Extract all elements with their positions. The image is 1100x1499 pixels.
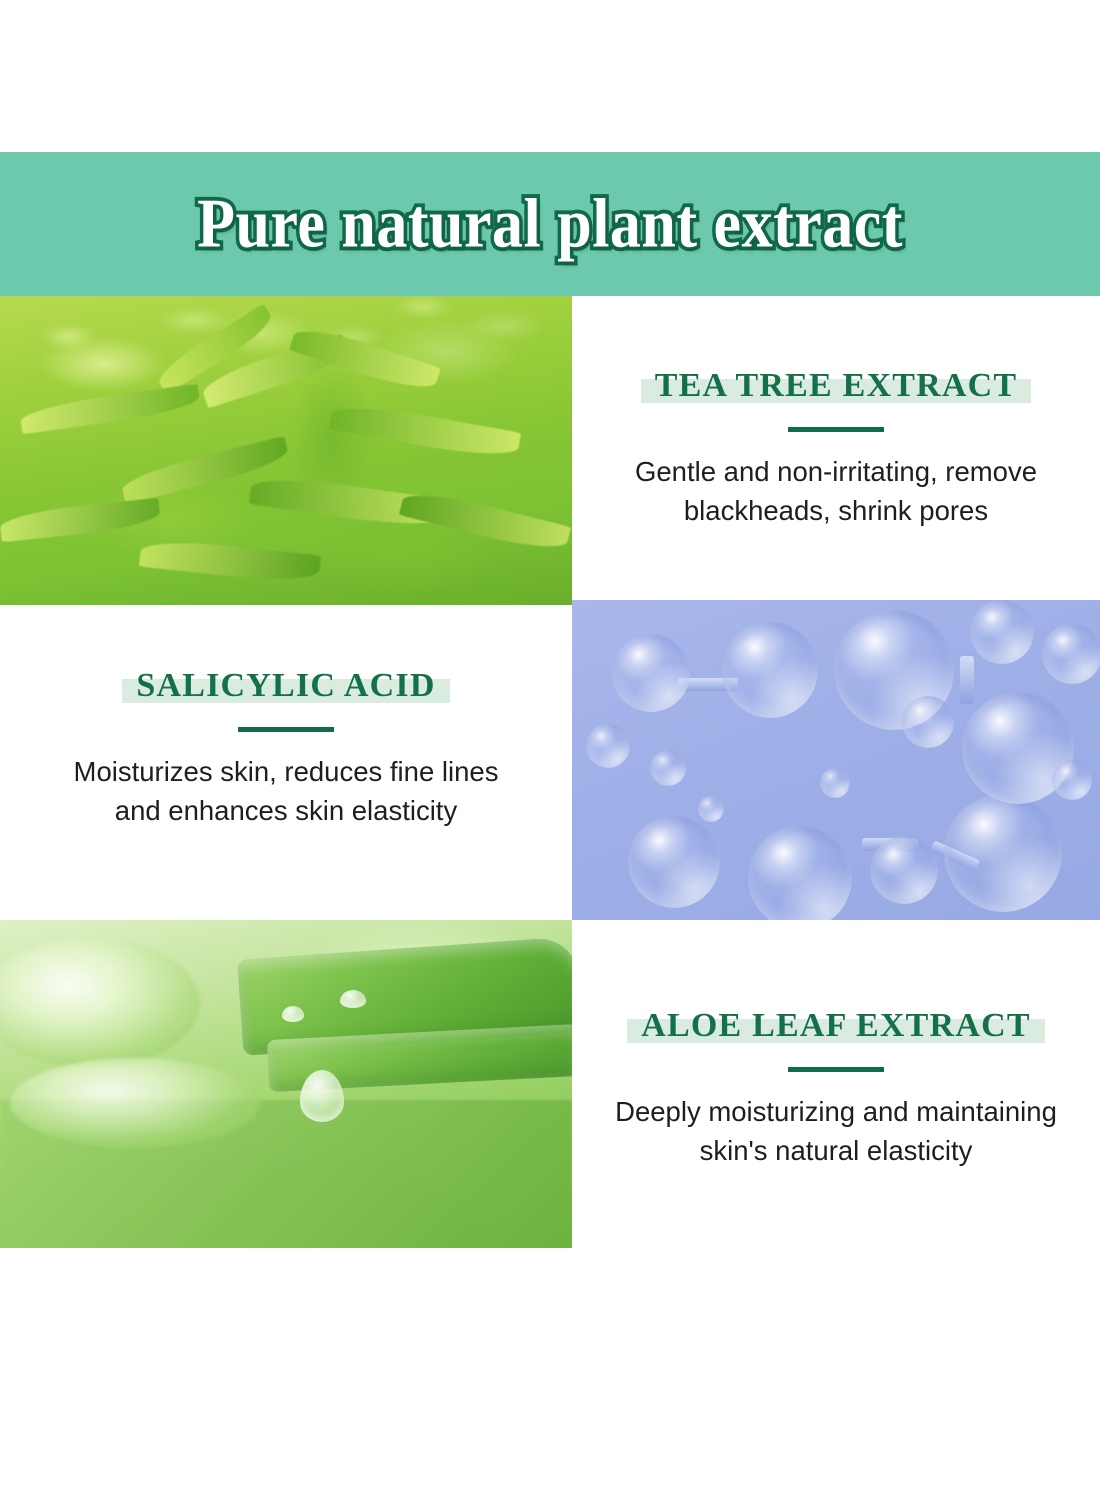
section-body: Gentle and non-irritating, remove blackh… [572, 452, 1100, 530]
page-title: Pure natural plant extract [197, 189, 903, 258]
bubble [1042, 624, 1100, 684]
section-tea-tree: TEA TREE EXTRACT Gentle and non-irritati… [572, 366, 1100, 530]
blue-bubbles-photo [572, 600, 1100, 920]
section-body: Deeply moisturizing and maintaining skin… [572, 1092, 1100, 1170]
section-title: ALOE LEAF EXTRACT [641, 1006, 1030, 1045]
molecule-bond [960, 656, 974, 704]
infographic-page: Pure natural plant extract TEA TREE EXTR… [0, 0, 1100, 1499]
title-divider [788, 1067, 884, 1072]
bubble [698, 796, 724, 822]
section-salicylic-acid: SALICYLIC ACID Moisturizes skin, reduces… [0, 666, 572, 830]
title-divider [788, 427, 884, 432]
bubble [612, 634, 690, 712]
bubble [1052, 760, 1092, 800]
section-title-wrap: ALOE LEAF EXTRACT [627, 1006, 1044, 1045]
aloe-vera-photo [0, 920, 572, 1248]
bubble [870, 836, 938, 904]
bubble [628, 816, 720, 908]
tea-leaves-photo [0, 296, 572, 605]
section-title: TEA TREE EXTRACT [655, 366, 1017, 405]
bubble [820, 768, 850, 798]
bubble [902, 696, 954, 748]
section-title-wrap: TEA TREE EXTRACT [641, 366, 1031, 405]
bubble [586, 724, 630, 768]
aloe-slice [10, 1058, 260, 1148]
bubble [944, 794, 1062, 912]
bubble [650, 750, 686, 786]
water-drop [340, 990, 366, 1008]
tea-leaf [139, 537, 321, 586]
tea-leaf [0, 498, 161, 543]
title-divider [238, 727, 334, 732]
section-aloe-leaf: ALOE LEAF EXTRACT Deeply moisturizing an… [572, 1006, 1100, 1170]
section-title-wrap: SALICYLIC ACID [122, 666, 449, 705]
header-banner: Pure natural plant extract [0, 152, 1100, 296]
water-drop [282, 1006, 304, 1022]
bubble [748, 826, 852, 920]
bubble [722, 622, 818, 718]
section-body: Moisturizes skin, reduces fine lines and… [0, 752, 572, 830]
aloe-slice [0, 938, 200, 1068]
bubble [970, 600, 1034, 664]
section-title: SALICYLIC ACID [136, 666, 435, 705]
tea-leaf [399, 486, 571, 556]
